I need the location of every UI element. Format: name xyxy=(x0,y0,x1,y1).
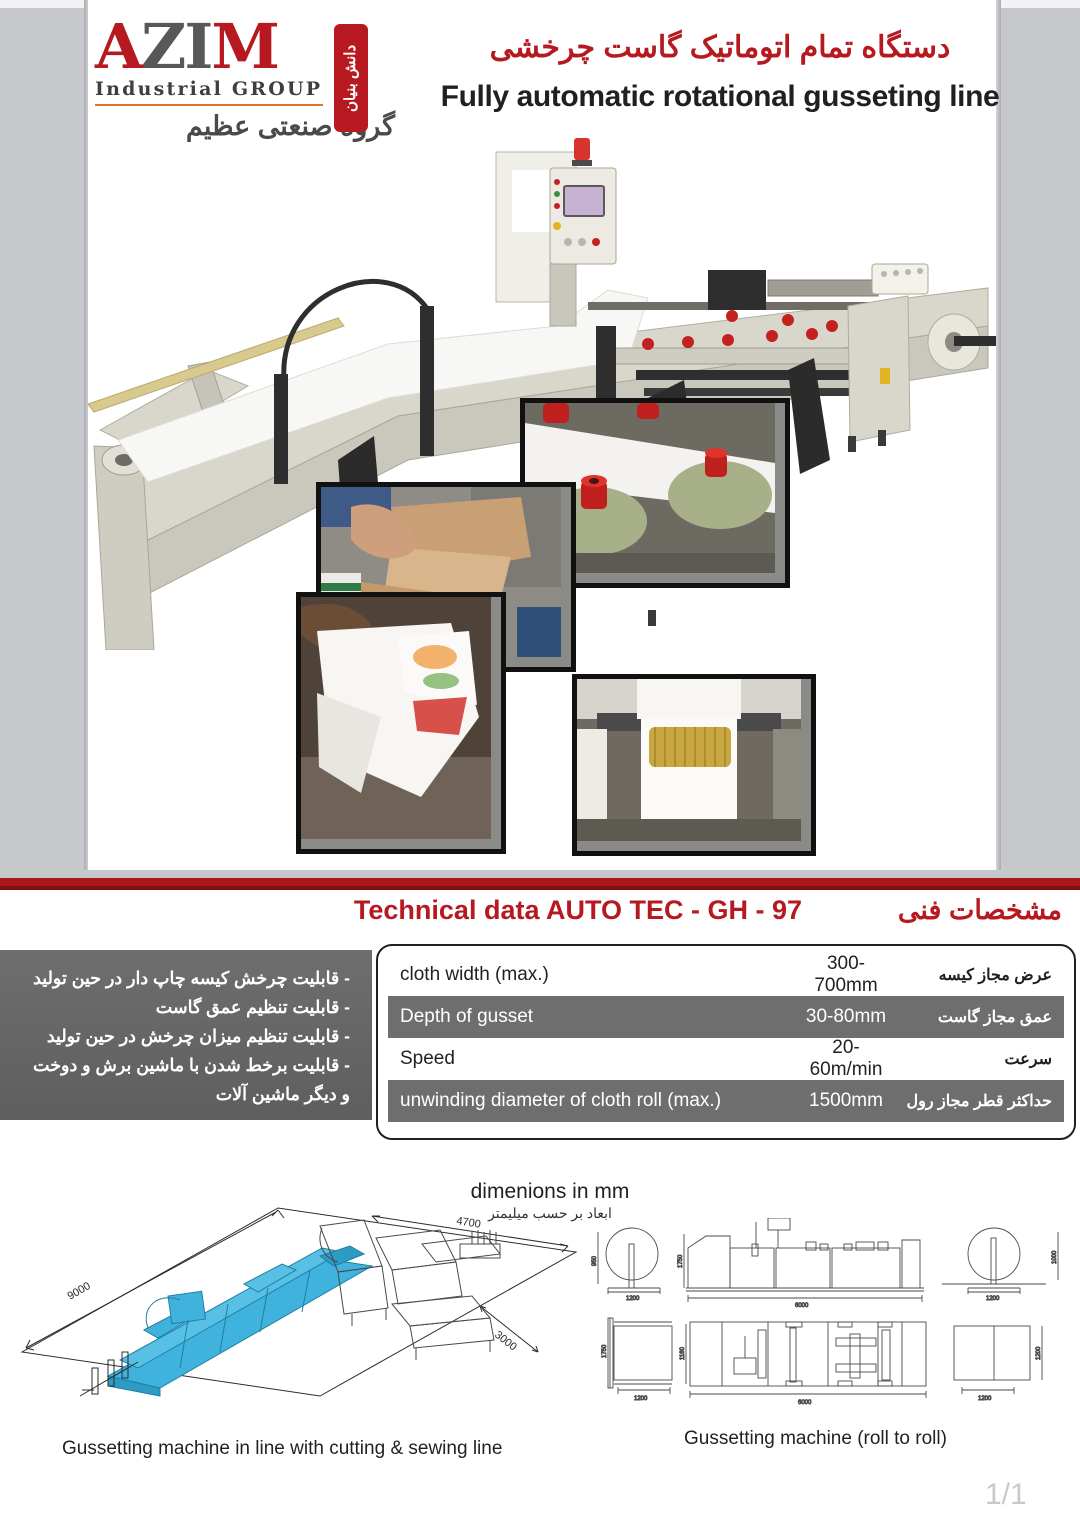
svg-text:1750: 1750 xyxy=(678,1254,684,1268)
spec-label-en: cloth width (max.) xyxy=(400,964,800,986)
feature-item: - قابلیت تنظیم عمق گاست xyxy=(14,993,350,1022)
section-divider-shade xyxy=(0,886,1080,890)
svg-text:6000: 6000 xyxy=(795,1303,809,1309)
page-indicator: 1/1 xyxy=(985,1478,1027,1512)
spec-value: 30-80mm xyxy=(800,1006,892,1028)
spec-title-english: Technical data AUTO TEC - GH - 97 xyxy=(354,895,802,926)
photo-collage xyxy=(88,130,996,870)
spec-table: cloth width (max.) 300-700mm عرض مجاز کی… xyxy=(376,944,1076,1140)
knowledge-based-badge: دانش بنیان xyxy=(334,24,368,132)
features-panel: - قابلیت چرخش کیسه چاپ دار در حین تولید … xyxy=(0,950,372,1120)
caption-ortho-drawing: Gussetting machine (roll to roll) xyxy=(684,1428,947,1450)
feature-item: و دیگر ماشین آلات xyxy=(14,1080,350,1109)
hero-right-shadow xyxy=(996,0,1001,870)
badge-label: دانش بنیان xyxy=(334,24,368,132)
svg-text:6000: 6000 xyxy=(798,1400,812,1406)
spec-value: 1500mm xyxy=(800,1090,892,1112)
svg-text:1200: 1200 xyxy=(1036,1346,1042,1360)
iso-dim-3000: 3000 xyxy=(492,1329,519,1354)
svg-text:1000: 1000 xyxy=(1052,1250,1058,1264)
svg-text:1200: 1200 xyxy=(626,1296,640,1302)
svg-text:1160: 1160 xyxy=(680,1346,686,1360)
table-row: cloth width (max.) 300-700mm عرض مجاز کی… xyxy=(388,954,1064,996)
logo-underline xyxy=(95,104,323,106)
logo-letter-a: A xyxy=(95,10,141,83)
iso-dim-4700: 4700 xyxy=(456,1215,482,1231)
caption-iso-drawing: Gussetting machine in line with cutting … xyxy=(62,1438,502,1460)
svg-text:1200: 1200 xyxy=(986,1296,1000,1302)
photo-embossing-roller-art xyxy=(577,679,801,841)
feature-item: - قابلیت برخط شدن با ماشین برش و دوخت xyxy=(14,1051,350,1080)
isometric-layout-drawing: 9000 4700 3000 xyxy=(20,1200,580,1400)
svg-text:1200: 1200 xyxy=(634,1396,648,1402)
photo-white-bag-art xyxy=(301,597,491,839)
spec-title-persian: مشخصات فنی xyxy=(898,895,1062,926)
photo-embossing-roller xyxy=(572,674,816,856)
page-title-persian: دستگاه تمام اتوماتیک گاست چرخشی xyxy=(440,30,1000,65)
spec-section-header: Technical data AUTO TEC - GH - 97 مشخصات… xyxy=(370,895,1080,939)
logo-letter-i: I xyxy=(184,10,211,83)
spec-label-en: unwinding diameter of cloth roll (max.) xyxy=(400,1090,800,1112)
orthographic-drawing-art: 1200 950 1750 6 xyxy=(590,1218,1070,1408)
page-title-english: Fully automatic rotational gusseting lin… xyxy=(440,80,1000,114)
table-row: Depth of gusset 30-80mm عمق مجاز گاست xyxy=(388,996,1064,1038)
isometric-drawing-art: 9000 4700 3000 xyxy=(20,1200,580,1400)
logo-letter-m: M xyxy=(211,10,278,83)
feature-item: - قابلیت تنظیم میزان چرخش در حین تولید xyxy=(14,1022,350,1051)
logo-letter-z: Z xyxy=(141,10,184,83)
table-row: Speed 20-60m/min سرعت xyxy=(388,1038,1064,1080)
spec-label-fa: عمق مجاز گاست xyxy=(892,1007,1052,1027)
spec-label-en: Speed xyxy=(400,1048,800,1070)
iso-dim-9000: 9000 xyxy=(66,1280,93,1303)
svg-text:1200: 1200 xyxy=(978,1396,992,1402)
photo-white-bag-gusset xyxy=(296,592,506,854)
features-list: - قابلیت چرخش کیسه چاپ دار در حین تولید … xyxy=(14,964,350,1109)
spec-label-en: Depth of gusset xyxy=(400,1006,800,1028)
spec-label-fa: عرض مجاز کیسه xyxy=(892,965,1052,985)
svg-text:1750: 1750 xyxy=(602,1344,608,1358)
spec-value: 20-60m/min xyxy=(800,1037,892,1081)
spec-value: 300-700mm xyxy=(800,953,892,997)
spec-label-fa: سرعت xyxy=(892,1049,1052,1069)
table-row: unwinding diameter of cloth roll (max.) … xyxy=(388,1080,1064,1122)
spec-label-fa: حداکثر قطر مجاز رول xyxy=(892,1091,1052,1111)
orthographic-drawing: 1200 950 1750 6 xyxy=(590,1218,1070,1408)
svg-text:950: 950 xyxy=(592,1255,598,1266)
feature-item: - قابلیت چرخش کیسه چاپ دار در حین تولید xyxy=(14,964,350,993)
